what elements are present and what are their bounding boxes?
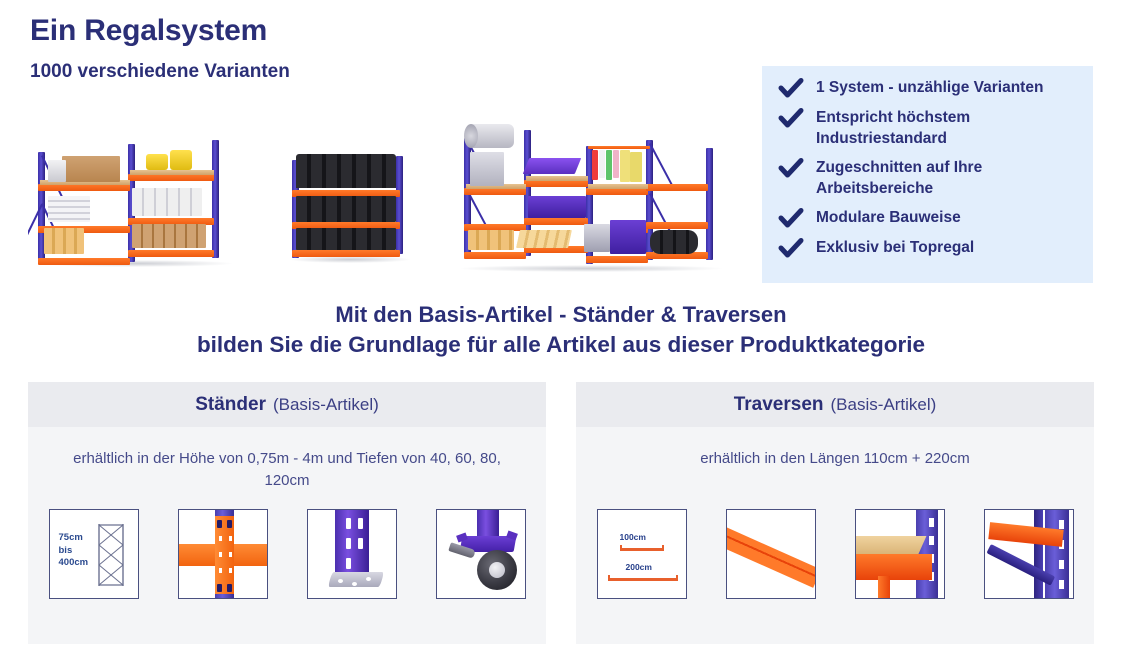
check-icon bbox=[778, 108, 804, 130]
thumbnail-post-foot-plate[interactable] bbox=[307, 509, 397, 599]
thumbnail-orange-beam[interactable] bbox=[726, 509, 816, 599]
panel-description: erhältlich in den Längen 110cm + 220cm bbox=[610, 448, 1060, 470]
post-graphic bbox=[1045, 509, 1069, 599]
page-subtitle: 1000 verschiedene Varianten bbox=[30, 61, 290, 83]
section-headline: Mit den Basis-Artikel - Ständer & Traver… bbox=[0, 300, 1122, 360]
rack-illustration-3 bbox=[460, 118, 716, 268]
check-icon bbox=[778, 238, 804, 260]
beam-graphic bbox=[726, 524, 816, 588]
thumbnail-diagonal-brace[interactable] bbox=[984, 509, 1074, 599]
thumbnail-beam-with-deck[interactable] bbox=[855, 509, 945, 599]
panel-traversen: Traversen (Basis-Artikel) erhältlich in … bbox=[576, 382, 1094, 644]
thumbnail-length-spec-drawing[interactable]: 100cm 200cm bbox=[597, 509, 687, 599]
length-bar-100 bbox=[620, 548, 664, 551]
post-graphic bbox=[335, 509, 369, 576]
headline-line-1: Mit den Basis-Artikel - Ständer & Traver… bbox=[0, 300, 1122, 330]
benefit-item-5: Exklusiv bei Topregal bbox=[762, 237, 1093, 259]
thumbnail-row-traversen: 100cm 200cm bbox=[576, 509, 1094, 599]
thumbnail-height-spec-drawing[interactable]: 75cm bis 400cm bbox=[49, 509, 139, 599]
length-label-200: 200cm bbox=[626, 562, 652, 572]
panel-description: erhältlich in der Höhe von 0,75m - 4m un… bbox=[62, 448, 512, 492]
beam-graphic bbox=[855, 554, 932, 580]
benefit-label: Modulare Bauweise bbox=[816, 207, 961, 228]
deck-graphic bbox=[855, 536, 926, 556]
panel-subtitle: (Basis-Artikel) bbox=[273, 395, 379, 415]
hero-product-image bbox=[28, 86, 744, 282]
benefit-label: 1 System - unzählige Varianten bbox=[816, 77, 1043, 98]
rack-illustration-1 bbox=[36, 140, 224, 262]
panel-title: Traversen bbox=[734, 394, 824, 416]
panel-staender-header: Ständer (Basis-Artikel) bbox=[28, 382, 546, 427]
wheel-hub-graphic bbox=[489, 562, 505, 578]
benefit-item-2: Entspricht höchstem Industriestandard bbox=[762, 107, 1093, 149]
check-icon bbox=[778, 158, 804, 180]
benefit-label: Exklusiv bei Topregal bbox=[816, 237, 974, 258]
panel-subtitle: (Basis-Artikel) bbox=[831, 395, 937, 415]
page-title: Ein Regalsystem bbox=[30, 14, 267, 48]
benefit-item-3: Zugeschnitten auf Ihre Arbeitsbereiche bbox=[762, 157, 1093, 199]
length-bar-200 bbox=[608, 578, 678, 581]
thumbnail-caster-wheel[interactable] bbox=[436, 509, 526, 599]
thumbnail-beam-post-connector[interactable] bbox=[178, 509, 268, 599]
height-spec-label: 75cm bis 400cm bbox=[59, 532, 89, 570]
post-inner-graphic bbox=[1034, 509, 1043, 599]
benefit-label: Entspricht höchstem Industriestandard bbox=[816, 107, 1078, 149]
frame-outline-icon bbox=[96, 524, 126, 591]
benefit-label: Zugeschnitten auf Ihre Arbeitsbereiche bbox=[816, 157, 1078, 199]
length-label-100: 100cm bbox=[620, 532, 646, 542]
benefit-item-1: 1 System - unzählige Varianten bbox=[762, 77, 1093, 99]
panel-traversen-header: Traversen (Basis-Artikel) bbox=[576, 382, 1094, 427]
post-graphic bbox=[477, 509, 499, 538]
panel-title: Ständer bbox=[195, 394, 266, 416]
headline-line-2: bilden Sie die Grundlage für alle Artike… bbox=[0, 330, 1122, 360]
benefit-item-4: Modulare Bauweise bbox=[762, 207, 1093, 229]
benefits-box: 1 System - unzählige Varianten Entsprich… bbox=[762, 66, 1093, 283]
beam-leg-graphic bbox=[878, 576, 890, 599]
check-icon bbox=[778, 78, 804, 100]
rack-illustration-2 bbox=[290, 146, 406, 258]
check-icon bbox=[778, 208, 804, 230]
thumbnail-row-staender: 75cm bis 400cm bbox=[28, 509, 546, 599]
panel-staender: Ständer (Basis-Artikel) erhältlich in de… bbox=[28, 382, 546, 644]
